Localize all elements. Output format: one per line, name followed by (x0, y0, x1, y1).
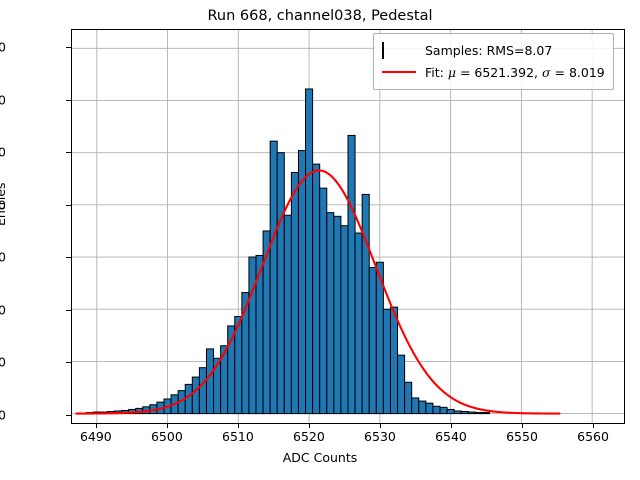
y-tick-label: 200 (0, 302, 6, 317)
y-tick-label: 500 (0, 145, 6, 160)
x-tick-label: 6520 (274, 429, 344, 444)
y-tick-label: 400 (0, 197, 6, 212)
x-tick-mark (522, 424, 523, 428)
sigma-value: = 8.019 (551, 65, 605, 80)
x-tick-label: 6500 (132, 429, 202, 444)
x-tick-mark (96, 424, 97, 428)
legend-line-icon (382, 65, 416, 79)
y-tick-label: 700 (0, 40, 6, 55)
x-tick-mark (167, 424, 168, 428)
y-tick-label: 0 (0, 407, 6, 422)
page-title: Run 668, channel038, Pedestal (0, 8, 640, 24)
mu-symbol: μ (448, 65, 456, 80)
x-axis-label: ADC Counts (0, 450, 640, 465)
x-tick-mark (309, 424, 310, 428)
x-tick-mark (593, 424, 594, 428)
legend-box: Samples: RMS=8.07 Fit: μ = 6521.392, σ =… (373, 33, 614, 90)
legend-patch-icon (382, 43, 416, 57)
legend-item-fit: Fit: μ = 6521.392, σ = 8.019 (382, 61, 605, 83)
y-tick-label: 600 (0, 92, 6, 107)
legend-label-samples: Samples: RMS=8.07 (425, 43, 552, 58)
x-tick-label: 6550 (487, 429, 557, 444)
fit-prefix: Fit: (425, 65, 448, 80)
x-tick-mark (451, 424, 452, 428)
x-tick-label: 6560 (558, 429, 628, 444)
x-tick-mark (238, 424, 239, 428)
x-tick-label: 6510 (203, 429, 273, 444)
y-tick-label: 300 (0, 250, 6, 265)
x-tick-mark (380, 424, 381, 428)
x-tick-label: 6490 (61, 429, 131, 444)
legend-label-fit: Fit: μ = 6521.392, σ = 8.019 (425, 65, 605, 80)
y-tick-label: 100 (0, 355, 6, 370)
figure-canvas: Run 668, channel038, Pedestal Entries AD… (0, 0, 640, 480)
x-tick-label: 6530 (345, 429, 415, 444)
x-tick-label: 6540 (416, 429, 486, 444)
legend-item-samples: Samples: RMS=8.07 (382, 39, 605, 61)
mu-value: = 6521.392, (456, 65, 542, 80)
sigma-symbol: σ (542, 65, 551, 80)
